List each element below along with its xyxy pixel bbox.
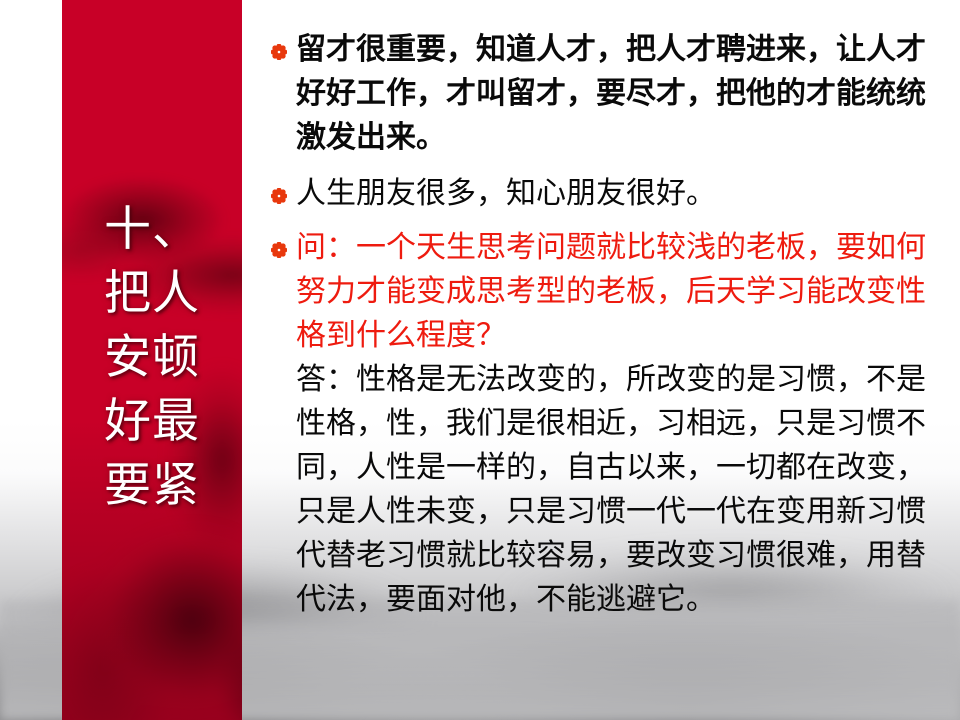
bullet-item-retain-talent: 留才很重要，知道人才，把人才聘进来，让人才好好工作，才叫留才，要尽才，把他的才能…	[262, 28, 952, 160]
slide-body: 留才很重要，知道人才，把人才聘进来，让人才好好工作，才叫留才，要尽才，把他的才能…	[262, 28, 952, 624]
bullet-marker	[262, 226, 296, 258]
bullet-item-friends: 人生朋友很多，知心朋友很好。	[262, 172, 952, 216]
slide-canvas: 十、 把人 安顿 好最 要紧	[0, 0, 960, 720]
spacer	[262, 218, 952, 226]
red-flower-bullet-icon	[271, 188, 287, 204]
section-title-text: 十、 把人 安顿 好最 要紧	[62, 198, 242, 518]
bullet-marker	[262, 172, 296, 204]
paragraph-retain-talent: 留才很重要，知道人才，把人才聘进来，让人才好好工作，才叫留才，要尽才，把他的才能…	[296, 28, 952, 160]
section-title-banner: 十、 把人 安顿 好最 要紧	[62, 0, 242, 720]
bullet-content: 问：一个天生思考问题就比较浅的老板，要如何努力才能变成思考型的老板，后天学习能改…	[296, 226, 952, 622]
paragraph-friends: 人生朋友很多，知心朋友很好。	[296, 172, 952, 216]
paragraph-question: 问：一个天生思考问题就比较浅的老板，要如何努力才能变成思考型的老板，后天学习能改…	[296, 226, 952, 358]
bullet-item-qa: 问：一个天生思考问题就比较浅的老板，要如何努力才能变成思考型的老板，后天学习能改…	[262, 226, 952, 622]
red-flower-bullet-icon	[271, 44, 287, 60]
bullet-content: 人生朋友很多，知心朋友很好。	[296, 172, 952, 216]
bullet-content: 留才很重要，知道人才，把人才聘进来，让人才好好工作，才叫留才，要尽才，把他的才能…	[296, 28, 952, 160]
paragraph-answer: 答：性格是无法改变的，所改变的是习惯，不是性格，性，我们是很相近，习相远，只是习…	[296, 358, 952, 622]
red-flower-bullet-icon	[271, 242, 287, 258]
bullet-marker	[262, 28, 296, 60]
spacer	[262, 162, 952, 172]
